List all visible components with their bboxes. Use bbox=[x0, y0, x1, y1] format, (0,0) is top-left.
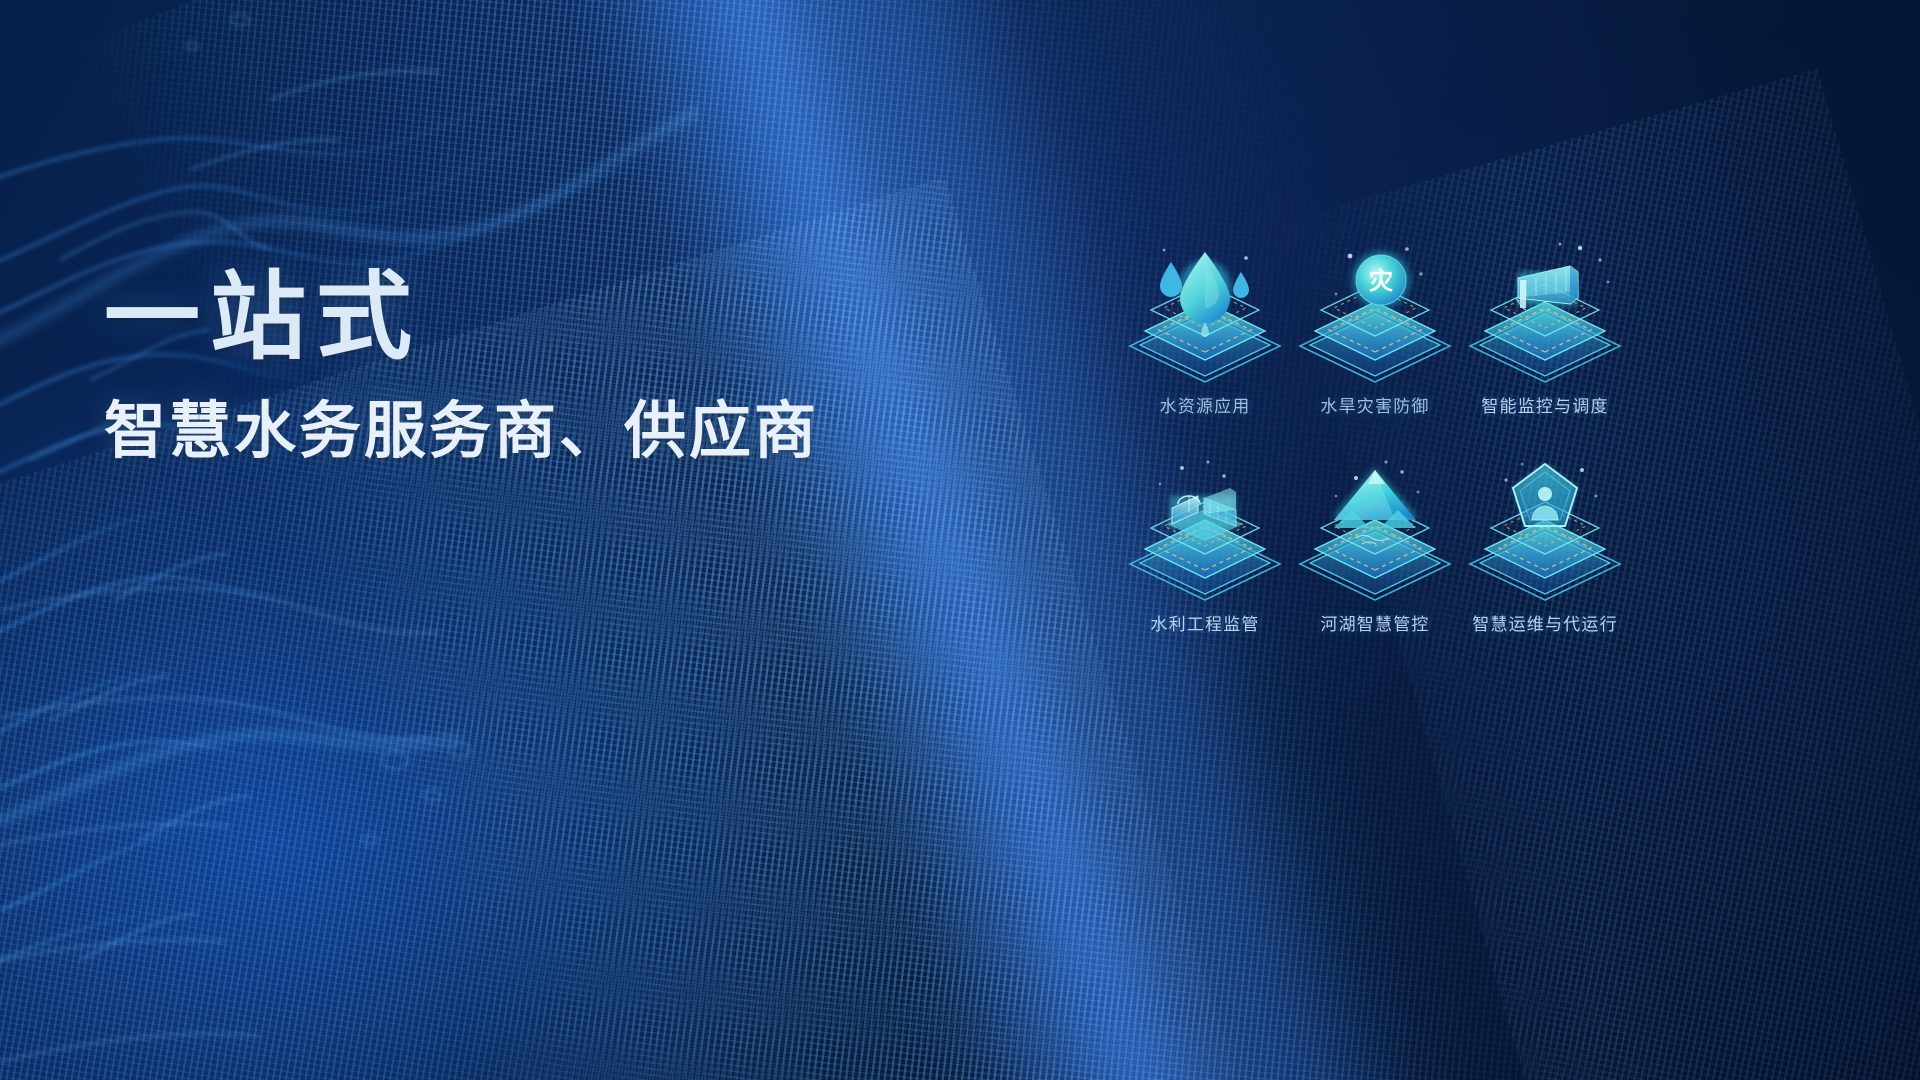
capability-label: 河湖智慧管控 bbox=[1320, 610, 1429, 635]
capability-item-smart-monitor-dispatch[interactable]: 智能监控与调度 bbox=[1460, 236, 1630, 420]
capability-label: 水资源应用 bbox=[1160, 392, 1251, 417]
capability-item-river-lake-smart-control[interactable]: 河湖智慧管控 bbox=[1290, 454, 1460, 638]
capability-grid-row-2: 水利工程监管 bbox=[1120, 454, 1630, 638]
capability-item-smart-ops-outsourcing[interactable]: 智慧运维与代运行 bbox=[1460, 454, 1630, 638]
capability-label: 水利工程监管 bbox=[1150, 610, 1259, 635]
capability-item-water-resource[interactable]: 水资源应用 bbox=[1120, 236, 1290, 420]
water-droplet-platform-icon bbox=[1120, 236, 1290, 386]
page-title: 一站式 bbox=[104, 266, 924, 370]
hero-copy: 一站式 智慧水务服务商、供应商 bbox=[104, 266, 924, 467]
capability-label: 水旱灾害防御 bbox=[1320, 392, 1429, 417]
capability-label: 智能监控与调度 bbox=[1481, 392, 1608, 417]
capability-item-hydro-project-supervision[interactable]: 水利工程监管 bbox=[1120, 454, 1290, 638]
capability-item-flood-drought-defense[interactable]: 灾 水旱灾害防御 bbox=[1290, 236, 1460, 420]
sluice-gate-platform-icon bbox=[1120, 454, 1290, 604]
water-ripple-texture bbox=[0, 0, 700, 1080]
disaster-badge-char: 灾 bbox=[1369, 267, 1393, 295]
disaster-orb-platform-icon: 灾 bbox=[1290, 236, 1460, 386]
capability-grid: 水资源应用 bbox=[1120, 236, 1630, 420]
page-subtitle: 智慧水务服务商、供应商 bbox=[104, 396, 924, 467]
dam-monitor-platform-icon bbox=[1460, 236, 1630, 386]
slide-canvas: 一站式 智慧水务服务商、供应商 bbox=[0, 0, 1920, 1080]
river-mountain-platform-icon bbox=[1290, 454, 1460, 604]
water-ripple-texture-lower bbox=[0, 520, 760, 1080]
shield-operator-platform-icon bbox=[1460, 454, 1630, 604]
capability-label: 智慧运维与代运行 bbox=[1472, 610, 1618, 635]
